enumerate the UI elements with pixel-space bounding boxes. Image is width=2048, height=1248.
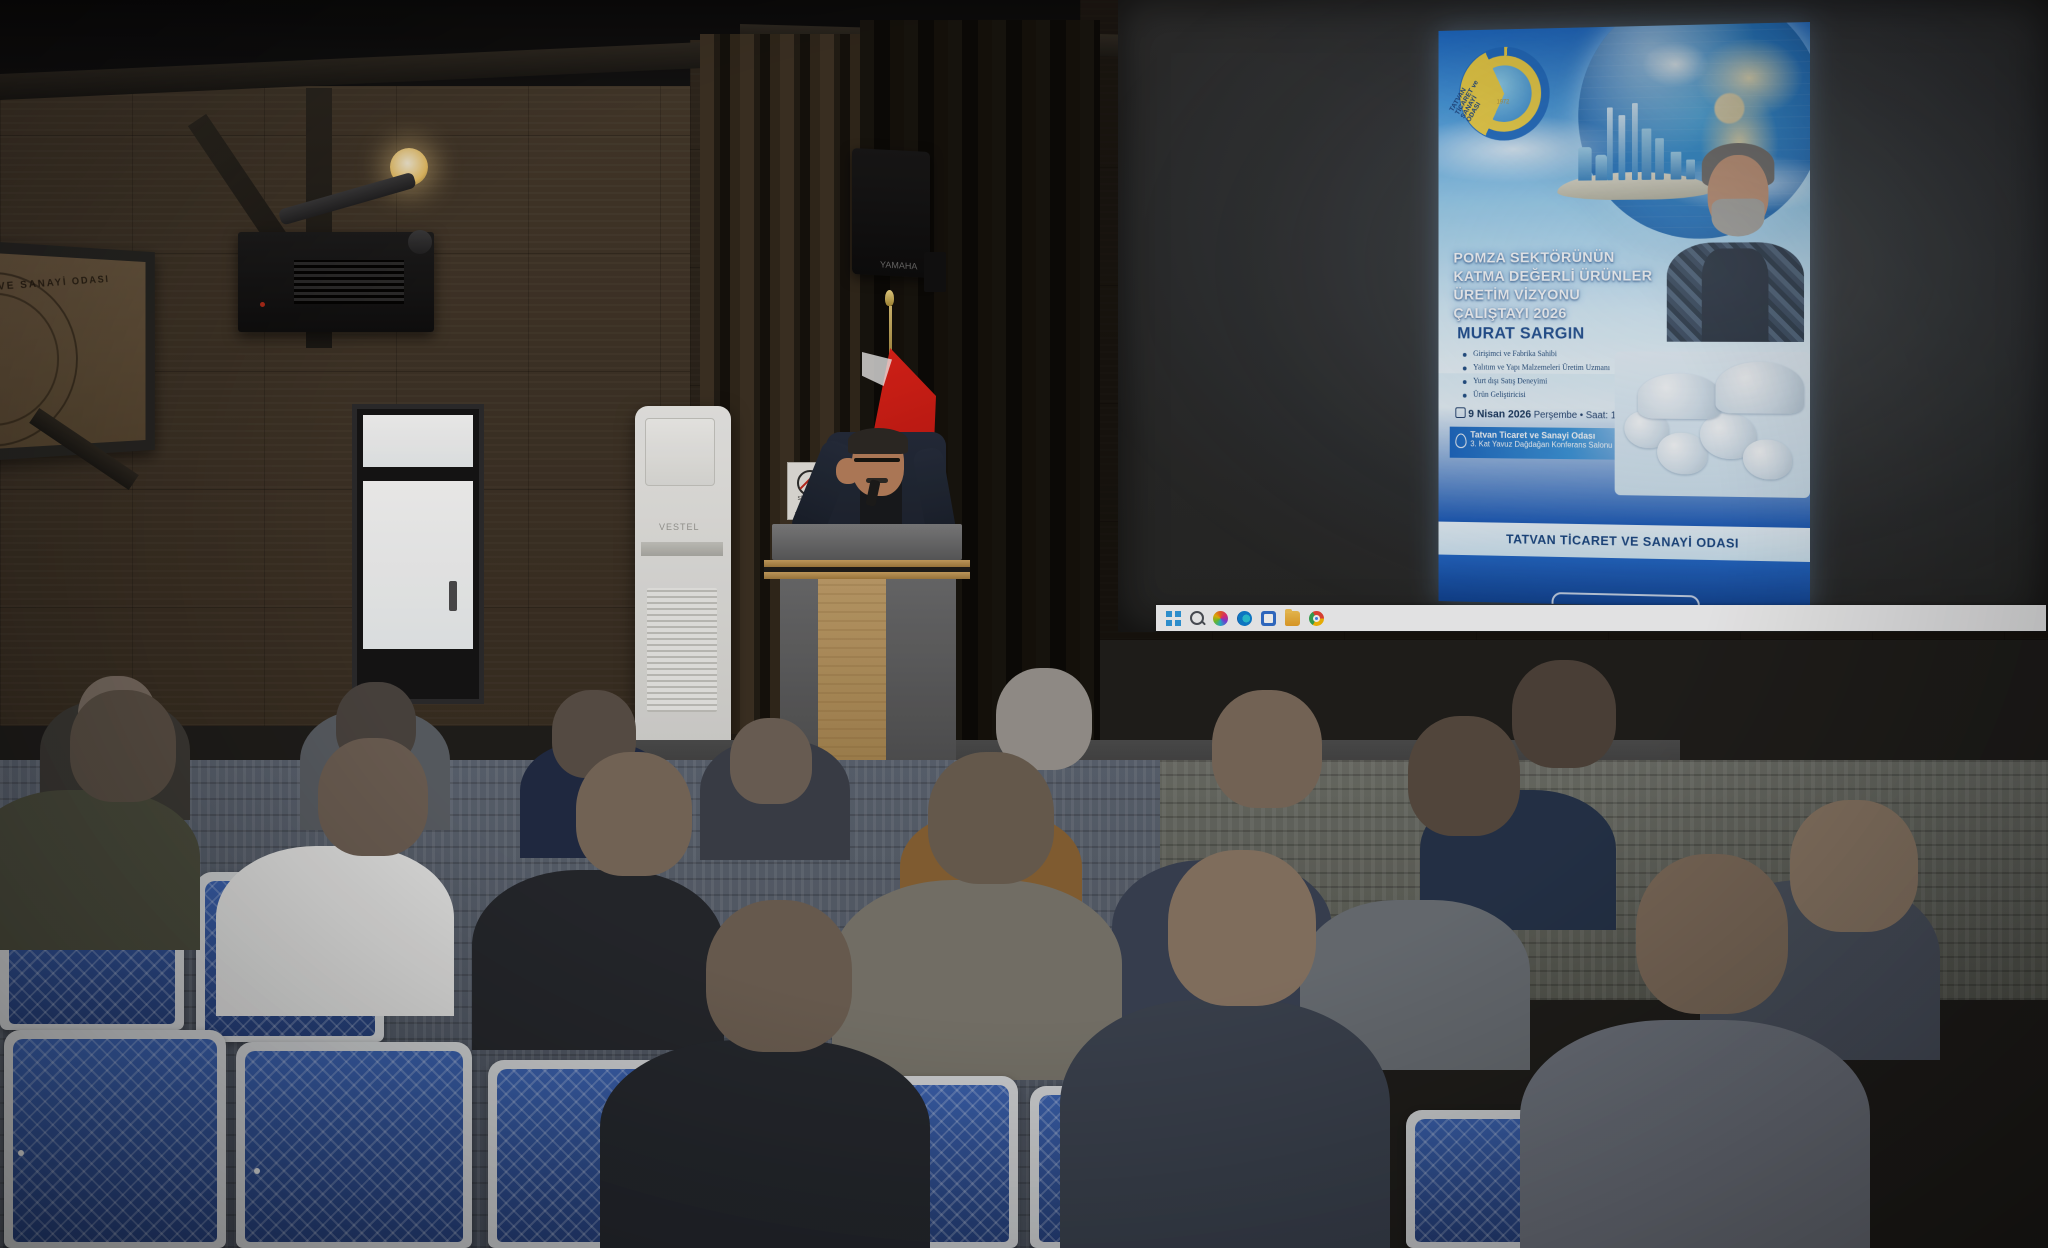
slide-date-bold: 9 Nisan 2026 bbox=[1468, 408, 1531, 420]
presentation-slide: TATVAN TİCARET ve SANAYİ ODASI 1972 POMZ… bbox=[1439, 22, 1810, 610]
start-icon[interactable] bbox=[1166, 611, 1181, 626]
location-pin-icon bbox=[1455, 433, 1466, 448]
refinery-tower-4 bbox=[1642, 128, 1652, 179]
chair-screw bbox=[254, 1168, 260, 1174]
attendee-head bbox=[70, 690, 176, 802]
ac-brand-label: VESTEL bbox=[659, 522, 700, 532]
door-glass bbox=[363, 481, 473, 649]
duct-collar bbox=[408, 230, 432, 254]
slide-title-line-2: KATMA DEĞERLİ ÜRÜNLER bbox=[1453, 268, 1652, 285]
attendee-head-front bbox=[1168, 850, 1316, 1006]
search-icon[interactable] bbox=[1190, 611, 1204, 625]
flag-finial-icon bbox=[885, 290, 894, 306]
pa-speaker: YAMAHA bbox=[852, 148, 930, 278]
attendee-head bbox=[1212, 690, 1322, 808]
ac-display-panel bbox=[645, 418, 715, 486]
portrait-vest bbox=[1702, 248, 1769, 342]
slide-date-row: 9 Nisan 2026 Perşembe • Saat: 13.00 bbox=[1455, 407, 1635, 421]
presenter-glasses-icon bbox=[854, 458, 900, 462]
chair[interactable] bbox=[236, 1042, 472, 1248]
heater-grill bbox=[294, 260, 404, 304]
speaker-bracket bbox=[924, 252, 946, 292]
refinery-tower-2 bbox=[1619, 115, 1626, 180]
store-icon[interactable] bbox=[1261, 611, 1276, 626]
emblem-year: 1972 bbox=[1497, 99, 1510, 105]
heater-power-led-icon bbox=[260, 302, 265, 307]
conference-hall-photo: TİCARET VE SANAYİ ODASI 1972 VESTEL YAMA… bbox=[0, 0, 2048, 1248]
ac-vent-grill bbox=[647, 588, 717, 712]
podium-stripe-lower bbox=[764, 572, 970, 579]
attendee-head bbox=[576, 752, 692, 876]
attendee-head bbox=[730, 718, 812, 804]
chamber-emblem: TATVAN TİCARET ve SANAYİ ODASI 1972 bbox=[1459, 46, 1550, 141]
podium-top bbox=[772, 524, 962, 560]
chair-screw bbox=[18, 1150, 24, 1156]
slide-title-line-4: ÇALIŞTAYI 2026 bbox=[1453, 305, 1652, 322]
attendee-head bbox=[318, 738, 428, 856]
door-handle[interactable] bbox=[449, 581, 457, 611]
emblem-arc-text-group: TATVAN TİCARET ve SANAYİ ODASI bbox=[1459, 46, 1550, 141]
slide-title-group: POMZA SEKTÖRÜNÜN KATMA DEĞERLİ ÜRÜNLER Ü… bbox=[1453, 249, 1652, 322]
chrome-icon[interactable] bbox=[1309, 611, 1324, 626]
slide-credentials-list: Girişimci ve Fabrika Sahibi Yalıtım ve Y… bbox=[1461, 347, 1610, 402]
credential-item: Ürün Geliştiricisi bbox=[1461, 388, 1610, 403]
credential-item: Yalıtım ve Yapı Malzemeleri Üretim Uzman… bbox=[1461, 361, 1610, 375]
podium-wood-panel bbox=[818, 579, 886, 775]
attendee-shoulders-front bbox=[1060, 1000, 1390, 1248]
portrait-beard bbox=[1712, 198, 1765, 236]
attendee-shoulders bbox=[472, 870, 724, 1050]
attendee-head bbox=[928, 752, 1054, 884]
refinery-tower-3 bbox=[1632, 103, 1638, 180]
chair-cushion bbox=[245, 1051, 463, 1242]
speaker-brand-label: YAMAHA bbox=[880, 259, 917, 271]
explorer-icon[interactable] bbox=[1285, 611, 1300, 626]
wall-heater bbox=[238, 232, 434, 332]
pumice-pile bbox=[1715, 362, 1804, 414]
refinery-tank-2 bbox=[1595, 155, 1607, 181]
speaker-portrait bbox=[1659, 138, 1810, 342]
ac-control-band[interactable] bbox=[641, 542, 723, 556]
chair-cushion bbox=[13, 1039, 217, 1242]
attendee-head bbox=[1790, 800, 1918, 932]
attendee-head bbox=[1512, 660, 1616, 768]
attendee-shoulders bbox=[0, 790, 200, 950]
attendee-shoulders-front bbox=[1520, 1020, 1870, 1248]
windows-taskbar[interactable] bbox=[1156, 605, 2046, 631]
slide-title-line-3: ÜRETİM VİZYONU bbox=[1453, 286, 1652, 303]
door-transom-glass bbox=[363, 415, 473, 467]
presenter-hair bbox=[848, 428, 908, 454]
slide-title-line-1: POMZA SEKTÖRÜNÜN bbox=[1453, 249, 1652, 267]
pumice-stone bbox=[1743, 439, 1792, 479]
attendee-head bbox=[1408, 716, 1520, 836]
pumice-stone-photo bbox=[1615, 351, 1810, 498]
calendar-icon bbox=[1455, 407, 1465, 418]
refinery-tank-1 bbox=[1578, 147, 1591, 181]
chair[interactable] bbox=[4, 1030, 226, 1248]
refinery-tower-1 bbox=[1607, 107, 1613, 180]
copilot-icon[interactable] bbox=[1213, 611, 1228, 626]
attendee-shoulders bbox=[216, 846, 454, 1016]
attendee-head-front bbox=[1636, 854, 1788, 1014]
credential-item: Yurt dışı Satış Deneyimi bbox=[1461, 374, 1610, 389]
air-conditioner[interactable]: VESTEL bbox=[635, 406, 731, 758]
attendee-head-front bbox=[706, 900, 852, 1052]
credential-item: Girişimci ve Fabrika Sahibi bbox=[1461, 347, 1610, 361]
slide-speaker-name: MURAT SARGIN bbox=[1457, 324, 1584, 344]
entrance-door[interactable] bbox=[352, 404, 484, 704]
attendee-shoulders-front bbox=[600, 1040, 930, 1248]
podium-stripe-upper bbox=[764, 560, 970, 567]
edge-icon[interactable] bbox=[1237, 611, 1252, 626]
pumice-pile bbox=[1638, 373, 1722, 419]
chamber-plaque: TİCARET VE SANAYİ ODASI 1972 bbox=[0, 239, 155, 463]
